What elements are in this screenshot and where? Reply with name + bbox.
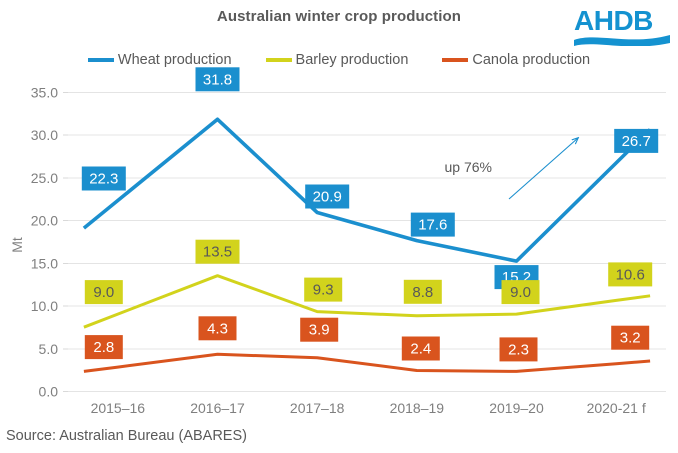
y-axis-tick-label: 30.0	[31, 127, 58, 143]
data-label-value: 20.9	[313, 188, 342, 205]
data-label-barley: 13.5	[196, 240, 240, 264]
y-axis-title: Mt	[9, 237, 25, 253]
x-axis-tick-label: 2015–16	[91, 400, 146, 416]
plot-area: 0.05.010.015.020.025.030.035.0Mt2015–162…	[0, 0, 678, 453]
y-axis-tick-label: 20.0	[31, 213, 58, 229]
data-label-value: 9.0	[93, 284, 114, 301]
data-label-canola: 2.3	[500, 337, 538, 361]
data-label-value: 2.4	[410, 340, 431, 357]
annotation-up-arrow: up 76%	[445, 138, 578, 199]
data-label-value: 13.5	[203, 244, 232, 261]
source-note: Source: Australian Bureau (ABARES)	[6, 428, 247, 444]
data-label-wheat: 17.6	[411, 213, 455, 237]
series-line-wheat	[84, 119, 650, 261]
data-label-value: 10.6	[616, 266, 645, 283]
data-label-wheat: 31.8	[196, 67, 240, 91]
x-axis-tick-label: 2018–19	[390, 400, 445, 416]
annotation-arrow-icon	[509, 138, 578, 199]
data-label-wheat: 20.9	[305, 185, 349, 209]
y-axis-tick-label: 35.0	[31, 85, 58, 101]
data-label-barley: 9.0	[502, 280, 540, 304]
data-label-value: 3.9	[309, 322, 330, 339]
data-label-canola: 3.2	[611, 326, 649, 350]
data-label-canola: 2.4	[402, 337, 440, 361]
data-label-barley: 9.0	[85, 280, 123, 304]
data-label-wheat: 22.3	[82, 167, 126, 191]
data-label-barley: 9.3	[304, 278, 342, 302]
data-label-canola: 2.8	[85, 335, 123, 359]
data-label-value: 9.0	[510, 284, 531, 301]
y-axis-tick-label: 5.0	[39, 341, 59, 357]
data-label-value: 4.3	[207, 320, 228, 337]
x-axis-tick-label: 2020-21 f	[587, 400, 646, 416]
series-line-canola	[84, 354, 650, 371]
data-label-value: 26.7	[622, 133, 651, 150]
x-axis-tick-label: 2017–18	[290, 400, 345, 416]
data-label-value: 9.3	[313, 282, 334, 299]
data-label-value: 2.3	[508, 341, 529, 358]
data-label-canola: 3.9	[300, 318, 338, 342]
data-label-value: 22.3	[89, 170, 118, 187]
data-label-value: 8.8	[412, 284, 433, 301]
y-axis-tick-label: 25.0	[31, 170, 58, 186]
chart-container: Australian winter crop production AHDB W…	[0, 0, 678, 453]
data-label-value: 31.8	[203, 71, 232, 88]
data-label-wheat: 26.7	[614, 129, 658, 153]
y-axis-tick-label: 0.0	[39, 384, 59, 400]
data-label-value: 2.8	[93, 339, 114, 356]
y-axis-tick-label: 10.0	[31, 298, 58, 314]
series-line-barley	[84, 276, 650, 328]
data-label-barley: 8.8	[404, 280, 442, 304]
x-axis-tick-label: 2019–20	[489, 400, 544, 416]
annotation-label: up 76%	[445, 159, 492, 175]
y-axis-tick-label: 15.0	[31, 255, 58, 271]
x-axis-tick-label: 2016–17	[190, 400, 245, 416]
data-label-barley: 10.6	[608, 262, 652, 286]
data-label-canola: 4.3	[199, 316, 237, 340]
data-label-value: 3.2	[620, 330, 641, 347]
data-label-value: 17.6	[418, 217, 447, 234]
